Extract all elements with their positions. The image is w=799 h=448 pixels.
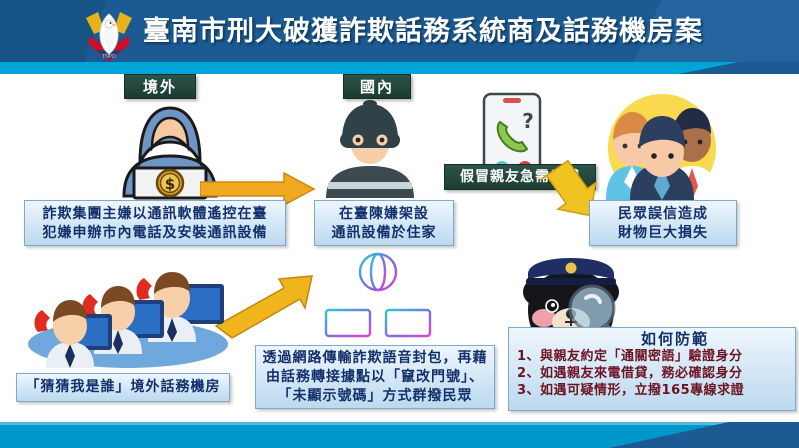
- info-box-callcenter-label: 「猜猜我是誰」境外話務機房: [16, 373, 230, 402]
- info-box-callcenter-label-line1: 「猜猜我是誰」境外話務機房: [17, 374, 229, 401]
- info-box-local-suspect-line1: 在臺陳嫌架設: [315, 205, 453, 224]
- info-box-scam-leader: 詐欺集團主嫌以通訊軟體遙控在臺 犯嫌申辦市內電話及安裝通訊設備: [24, 200, 286, 246]
- footer-bar: [0, 422, 799, 448]
- masked-burglar-icon: [316, 96, 424, 200]
- info-box-victim-loss-line2: 財物巨大損失: [590, 224, 736, 243]
- call-center-operators-icon: [22, 256, 234, 370]
- svg-text:?: ?: [522, 109, 534, 133]
- header-accent-bar: [0, 62, 799, 74]
- info-box-scam-leader-line1: 詐欺集團主嫌以通訊軟體遙控在臺: [25, 205, 285, 224]
- prevention-tip-1: 1、與親友約定「通關密語」驗證身分: [509, 348, 795, 365]
- info-box-scam-leader-line2: 犯嫌申辦市內電話及安裝通訊設備: [25, 224, 285, 243]
- prevention-tip-2: 2、如遇親友來電借貸，務必確認身分: [509, 365, 795, 382]
- svg-text:$: $: [165, 175, 175, 193]
- info-box-local-suspect-line2: 通訊設備於住家: [315, 224, 453, 243]
- tainan-police-emblem-icon: TNPD: [78, 4, 140, 66]
- info-box-voip-method-line2: 由話務轉接據點以「竄改門號」、: [256, 368, 494, 387]
- footer-wedge: [609, 422, 799, 448]
- prevention-heading: 如何防範: [555, 330, 795, 348]
- info-box-local-suspect: 在臺陳嫌架設 通訊設備於住家: [314, 200, 454, 246]
- page-title: 臺南市刑大破獲詐欺話務系統商及話務機房案: [143, 11, 763, 53]
- prevention-tips-panel: 如何防範 1、與親友約定「通關密語」驗證身分 2、如遇親友來電借貸，務必確認身分…: [508, 327, 796, 411]
- prevention-tip-3: 3、如遇可疑情形，立撥165專線求證: [509, 382, 795, 399]
- tag-domestic: 國內: [343, 74, 411, 99]
- svg-text:TNPD: TNPD: [101, 54, 116, 60]
- info-box-voip-method: 透過網路傳輸詐欺語音封包，再藉 由話務轉接據點以「竄改門號」、 「未顯示號碼」方…: [255, 345, 495, 409]
- header-accent-wedge: [679, 62, 799, 74]
- info-box-voip-method-line3: 「未顯示號碼」方式群撥民眾: [256, 387, 494, 406]
- globe-network-computers-icon: [322, 252, 434, 344]
- info-box-victim-loss-line1: 民眾誤信造成: [590, 205, 736, 224]
- info-box-victim-loss: 民眾誤信造成 財物巨大損失: [589, 200, 737, 246]
- footer-highlight: [0, 422, 799, 425]
- info-box-voip-method-line1: 透過網路傳輸詐欺語音封包，再藉: [256, 349, 494, 368]
- infographic-canvas: TNPD 臺南市刑大破獲詐欺話務系統商及話務機房案 $: [0, 0, 799, 448]
- tag-overseas: 境外: [124, 74, 196, 99]
